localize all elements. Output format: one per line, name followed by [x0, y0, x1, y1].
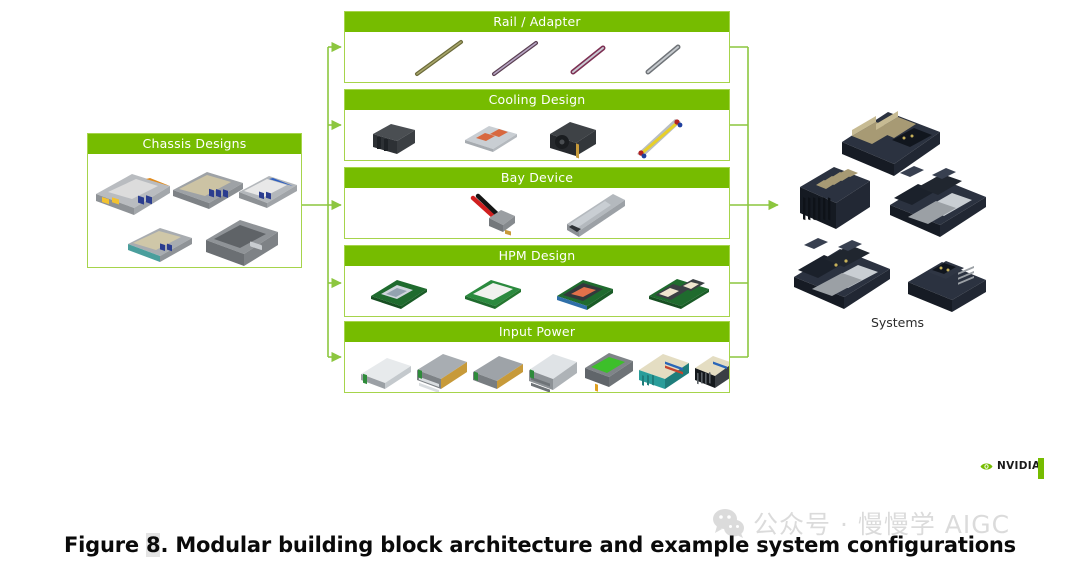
system-2u-dual-gpu	[842, 111, 940, 176]
hpm-design-box[interactable]: HPM Design	[344, 245, 730, 317]
cooling-coldplate	[465, 126, 517, 152]
nvidia-accent-bar	[1038, 458, 1044, 479]
rail-rod-silver	[648, 47, 678, 72]
hpm-thumbnails	[345, 266, 729, 316]
chassis-tray-teal	[128, 228, 192, 262]
hpm-board-socket	[371, 280, 427, 309]
cooling-design-body	[345, 110, 729, 160]
rail-rod-magenta	[573, 48, 603, 72]
system-flat-node-a	[890, 166, 986, 237]
figure-caption: Figure 8. Modular building block archite…	[0, 533, 1080, 557]
bay-device-body	[345, 188, 729, 238]
system-compact-node	[908, 261, 986, 312]
hpm-board-orange	[557, 280, 613, 310]
caption-suffix: . Modular building block architecture an…	[160, 533, 1016, 557]
hpm-design-body	[345, 266, 729, 316]
input-power-box[interactable]: Input Power	[344, 321, 730, 393]
bay-device-title: Bay Device	[345, 168, 729, 188]
caption-number: 8	[146, 533, 160, 557]
rail-rod-purple	[494, 43, 536, 74]
psu-stacked-gray	[529, 354, 577, 392]
chassis-designs-box[interactable]: Chassis Designs	[87, 133, 302, 268]
hpm-board-dual	[649, 279, 709, 309]
chassis-thumbnails	[88, 154, 301, 267]
hpm-design-title: HPM Design	[345, 246, 729, 266]
bay-device-box[interactable]: Bay Device	[344, 167, 730, 239]
psu-gray-gold-2	[473, 356, 523, 389]
cooling-design-title: Cooling Design	[345, 90, 729, 110]
psu-slim-white	[361, 358, 411, 389]
chassis-designs-title: Chassis Designs	[88, 134, 301, 154]
cooling-fan-module	[550, 122, 596, 159]
power-thumbnails	[345, 342, 729, 392]
psu-gray-gold	[417, 354, 467, 392]
hpm-board-white	[465, 280, 521, 309]
chassis-tray-tan	[173, 172, 243, 209]
system-flat-node-b	[794, 238, 890, 309]
input-power-title: Input Power	[345, 322, 729, 342]
input-power-body	[345, 342, 729, 392]
chassis-tray-blue	[239, 176, 297, 208]
cooling-thumbnails	[345, 110, 729, 160]
rail-adapter-box[interactable]: Rail / Adapter	[344, 11, 730, 83]
cooling-design-box[interactable]: Cooling Design	[344, 89, 730, 161]
bay-drive-module	[567, 194, 625, 237]
systems-group	[790, 95, 1005, 335]
caption-prefix: Figure	[64, 533, 146, 557]
nvidia-wordmark: NVIDIA	[997, 460, 1040, 472]
bay-thumbnails	[345, 188, 729, 238]
rail-thumbnails	[345, 32, 729, 82]
nvidia-eye-icon	[980, 462, 993, 471]
slide-canvas: Chassis Designs	[0, 0, 1080, 500]
chassis-tray-orange	[96, 174, 170, 215]
psu-busbar-teal	[639, 354, 689, 389]
cooling-heatpipe-assembly	[637, 119, 682, 158]
systems-thumbnails	[790, 95, 1005, 335]
psu-finned-black	[695, 356, 729, 388]
systems-label: Systems	[790, 315, 1005, 330]
chassis-designs-body	[88, 154, 301, 267]
system-finned-node	[800, 167, 870, 229]
chassis-enclosure-gray	[206, 220, 278, 266]
rail-rod-olive	[417, 42, 461, 74]
nvidia-logo: NVIDIA	[980, 460, 1040, 472]
bay-cable-connector	[473, 196, 515, 235]
cooling-heatsink-block	[373, 124, 415, 154]
rail-adapter-title: Rail / Adapter	[345, 12, 729, 32]
rail-adapter-body	[345, 32, 729, 82]
psu-open-green	[585, 353, 633, 392]
